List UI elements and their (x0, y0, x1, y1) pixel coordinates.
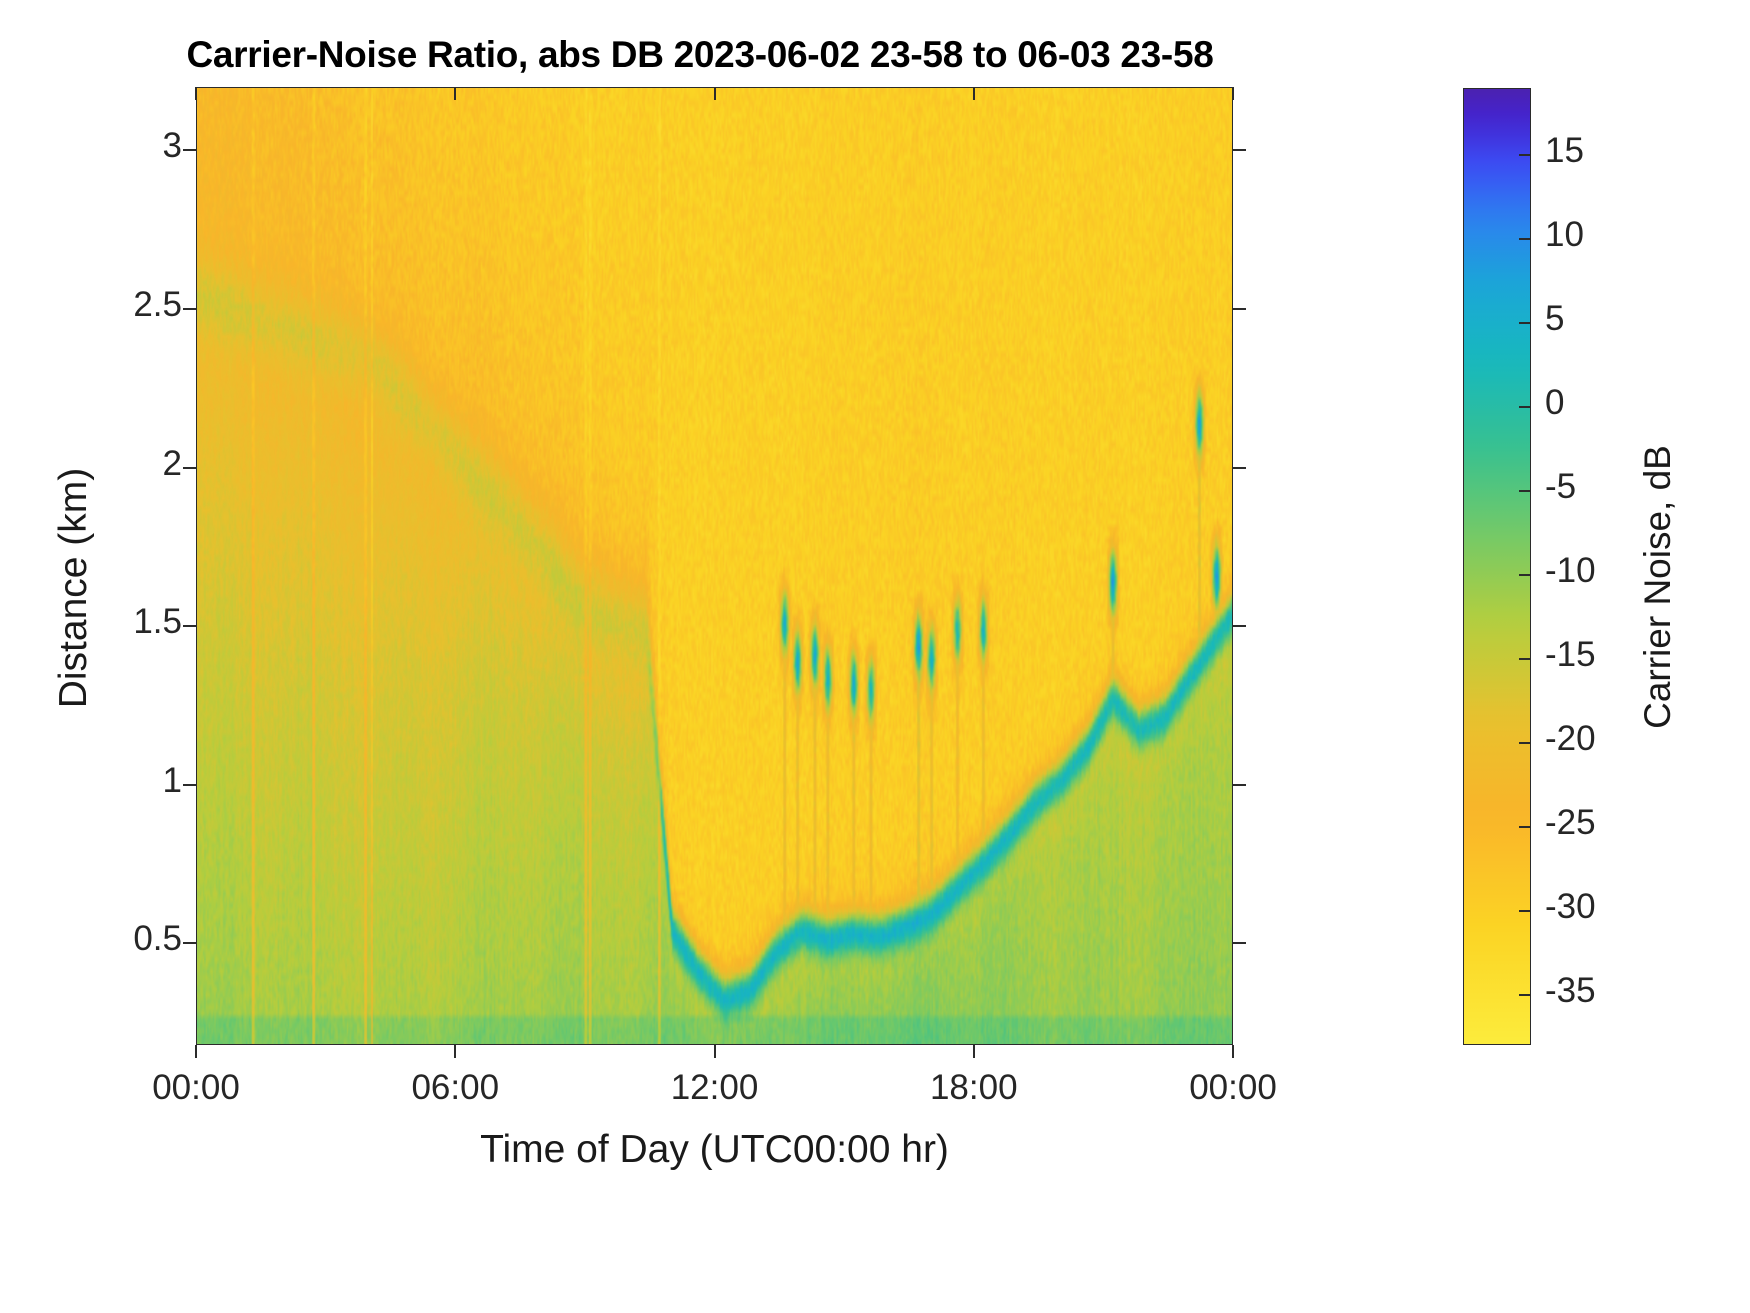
colorbar-tick--20 (1519, 742, 1531, 744)
colorbar-tick--25 (1519, 826, 1531, 828)
x-tick-top-3 (973, 87, 975, 100)
colorbar-tick-label--25: -25 (1545, 803, 1596, 843)
colorbar-tick-10 (1519, 238, 1531, 240)
colorbar-tick-15 (1519, 154, 1531, 156)
colorbar-tick--35 (1519, 994, 1531, 996)
colorbar-tick-label--5: -5 (1545, 467, 1576, 507)
x-tick-label-2: 12:00 (615, 1068, 815, 1108)
colorbar-tick-5 (1519, 322, 1531, 324)
colorbar-tick--30 (1519, 910, 1531, 912)
y-tick-right-2.5 (1233, 308, 1246, 310)
colorbar-tick-label--10: -10 (1545, 551, 1596, 591)
x-tick-top-0 (195, 87, 197, 100)
y-tick-2.5 (183, 308, 196, 310)
x-tick-1 (454, 1045, 456, 1058)
y-tick-right-3 (1233, 149, 1246, 151)
colorbar-tick-label--35: -35 (1545, 971, 1596, 1011)
colorbar-tick-label-0: 0 (1545, 383, 1564, 423)
y-tick-2 (183, 467, 196, 469)
colorbar-tick-label--30: -30 (1545, 887, 1596, 927)
y-tick-1.5 (183, 625, 196, 627)
y-tick-label-1.5: 1.5 (133, 602, 182, 642)
y-tick-0.5 (183, 942, 196, 944)
y-tick-1 (183, 784, 196, 786)
colorbar-tick-label-5: 5 (1545, 299, 1564, 339)
y-tick-label-1: 1 (163, 761, 182, 801)
colorbar (1463, 88, 1531, 1045)
y-tick-right-0.5 (1233, 942, 1246, 944)
colorbar-tick--15 (1519, 658, 1531, 660)
x-tick-0 (195, 1045, 197, 1058)
page-title: Carrier-Noise Ratio, abs DB 2023-06-02 2… (0, 34, 1400, 76)
x-tick-label-1: 06:00 (355, 1068, 555, 1108)
y-tick-label-3: 3 (163, 126, 182, 166)
colorbar-tick-label-15: 15 (1545, 131, 1584, 171)
y-tick-label-2.5: 2.5 (133, 285, 182, 325)
heatmap-axes (196, 87, 1233, 1045)
x-tick-top-1 (454, 87, 456, 100)
colorbar-tick--5 (1519, 490, 1531, 492)
colorbar-tick-label--15: -15 (1545, 635, 1596, 675)
figure-canvas: Carrier-Noise Ratio, abs DB 2023-06-02 2… (0, 0, 1750, 1313)
y-tick-right-1 (1233, 784, 1246, 786)
x-tick-2 (714, 1045, 716, 1058)
y-tick-right-2 (1233, 467, 1246, 469)
colorbar-tick-label--20: -20 (1545, 719, 1596, 759)
colorbar-tick--10 (1519, 574, 1531, 576)
x-tick-4 (1232, 1045, 1234, 1058)
colorbar-tick-label-10: 10 (1545, 215, 1584, 255)
heatmap-image (197, 88, 1233, 1045)
colorbar-tick-0 (1519, 406, 1531, 408)
x-tick-top-2 (714, 87, 716, 100)
colorbar-gradient (1464, 89, 1530, 1044)
y-axis-label: Distance (km) (52, 358, 96, 818)
y-tick-3 (183, 149, 196, 151)
y-tick-label-0.5: 0.5 (133, 919, 182, 959)
x-tick-label-3: 18:00 (874, 1068, 1074, 1108)
x-tick-label-0: 00:00 (96, 1068, 296, 1108)
x-tick-3 (973, 1045, 975, 1058)
x-axis-label: Time of Day (UTC00:00 hr) (196, 1128, 1233, 1172)
x-tick-top-4 (1232, 87, 1234, 100)
colorbar-label: Carrier Noise, dB (1637, 357, 1679, 817)
y-tick-right-1.5 (1233, 625, 1246, 627)
y-tick-label-2: 2 (163, 444, 182, 484)
x-tick-label-4: 00:00 (1133, 1068, 1333, 1108)
